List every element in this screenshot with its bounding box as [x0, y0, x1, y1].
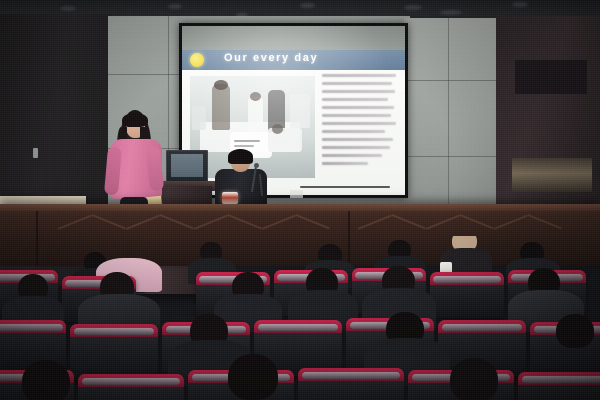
red-white-cup [222, 192, 238, 204]
seat-rail [442, 324, 523, 331]
seat-rail [82, 378, 180, 385]
presenter-laptop [166, 150, 208, 185]
ceiling-light-icon [168, 4, 182, 9]
wall-seam [404, 156, 500, 157]
seat-rail [302, 372, 400, 379]
seat[interactable] [430, 272, 504, 318]
table-cable [300, 186, 390, 188]
ceiling-light-icon [404, 5, 422, 10]
laptop-screen [171, 154, 203, 177]
audience-head-foreground [22, 360, 70, 400]
wall-recess [515, 60, 587, 94]
seated-man-hair [228, 149, 253, 164]
seat-rail [522, 376, 600, 383]
seat[interactable] [78, 374, 184, 400]
ceiling-light-icon [60, 6, 76, 11]
wall-seam [448, 18, 449, 230]
stage-edge [0, 204, 600, 211]
wall-window-opening [512, 158, 592, 192]
seat[interactable] [518, 372, 600, 400]
ceiling-light-icon [300, 3, 315, 8]
seat-rail [0, 324, 63, 331]
slide-title: Our every day [224, 52, 318, 64]
audience-head-foreground [228, 354, 278, 400]
presenter-hair-fringe [122, 113, 148, 127]
audience-head [556, 314, 594, 348]
ceiling-light-icon [512, 2, 528, 7]
audience-area [0, 236, 600, 400]
slide-top-margin [182, 26, 405, 50]
wall-switch-icon [33, 148, 38, 158]
table-paper [290, 190, 303, 198]
audience-head-foreground [450, 358, 498, 400]
seat[interactable] [298, 368, 404, 400]
wall-seam [404, 80, 500, 81]
yellow-circle-icon [190, 53, 204, 67]
ceiling-vent-icon [440, 10, 462, 15]
seat[interactable] [70, 324, 158, 380]
auditorium-scene: Our every day [0, 0, 600, 400]
slide-text-column [322, 74, 398, 184]
seat-rail [258, 324, 339, 331]
microphone-head-icon [254, 163, 259, 168]
wall-right [404, 18, 500, 230]
seat-rail [433, 276, 501, 283]
seat-rail [74, 328, 155, 335]
